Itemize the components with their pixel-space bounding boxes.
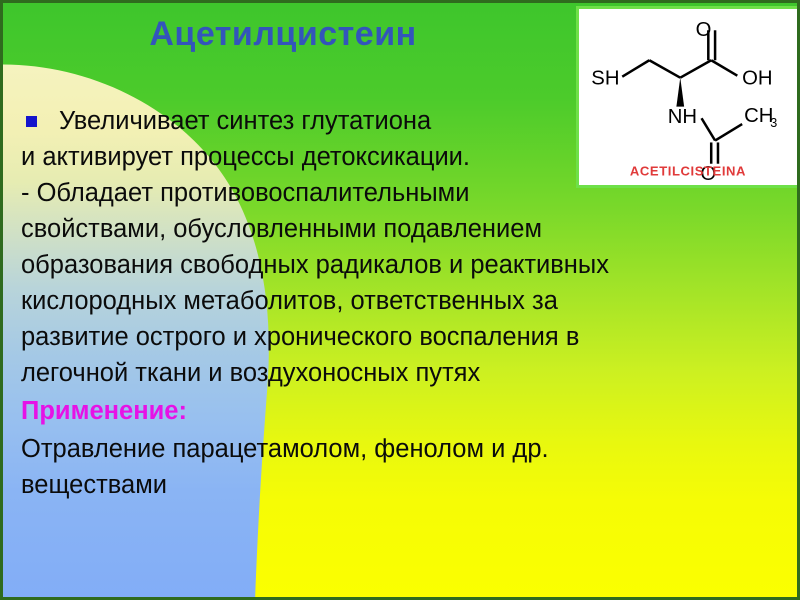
slide: Ацетилцистеин SH OH [0, 0, 800, 600]
bullet-list-item: Увеличивает синтез глутатиона [21, 103, 781, 139]
body-paragraph-line: легочной ткани и воздухоносных путях [21, 355, 781, 391]
usage-line: Отравление парацетамолом, фенолом и др. [21, 431, 781, 467]
body-paragraph-line: развитие острого и хронического воспален… [21, 319, 781, 355]
square-bullet-icon [26, 116, 37, 127]
section-heading-usage: Применение: [21, 391, 781, 431]
bullet-item-text: Увеличивает синтез глутатиона [59, 103, 431, 139]
page-title: Ацетилцистеин [3, 15, 563, 54]
body-paragraph-line: образования свободных радикалов и реакти… [21, 247, 781, 283]
atom-label-oh: OH [742, 67, 772, 89]
body-line-2: и активирует процессы детоксикации. [21, 139, 781, 175]
atom-label-sh: SH [591, 67, 619, 89]
body-text-block: Увеличивает синтез глутатиона и активиру… [21, 103, 781, 503]
usage-line: веществами [21, 467, 781, 503]
body-paragraph-line: - Обладает противовоспалительными [21, 175, 781, 211]
body-paragraph-line: кислородных метаболитов, ответственных з… [21, 283, 781, 319]
body-paragraph-line: свойствами, обусловленными подавлением [21, 211, 781, 247]
atom-label-oxygen-top: O [696, 19, 712, 41]
